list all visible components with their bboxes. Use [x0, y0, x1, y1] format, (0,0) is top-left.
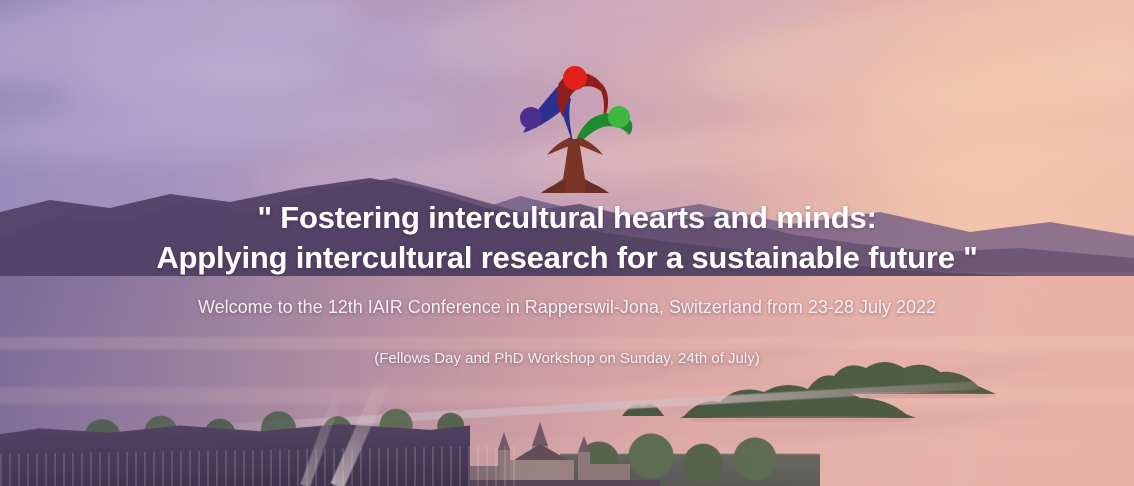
logo-root-right	[585, 181, 609, 193]
welcome-subtitle: Welcome to the 12th IAIR Conference in R…	[0, 294, 1134, 320]
logo-head-center	[563, 66, 587, 90]
fellows-day-note: (Fellows Day and PhD Workshop on Sunday,…	[0, 348, 1134, 370]
hero-text-block: " Fostering intercultural hearts and min…	[0, 198, 1134, 370]
headline-line-1: " Fostering intercultural hearts and min…	[257, 200, 876, 235]
headline-line-2: Applying intercultural research for a su…	[0, 238, 1134, 278]
logo-head-left	[520, 107, 542, 129]
logo-head-right	[608, 106, 630, 128]
iair-logo[interactable]	[505, 55, 645, 200]
page-title: " Fostering intercultural hearts and min…	[0, 198, 1134, 278]
logo-trunk	[541, 139, 609, 193]
conference-hero-banner: " Fostering intercultural hearts and min…	[0, 0, 1134, 486]
logo-root-left	[541, 181, 565, 193]
